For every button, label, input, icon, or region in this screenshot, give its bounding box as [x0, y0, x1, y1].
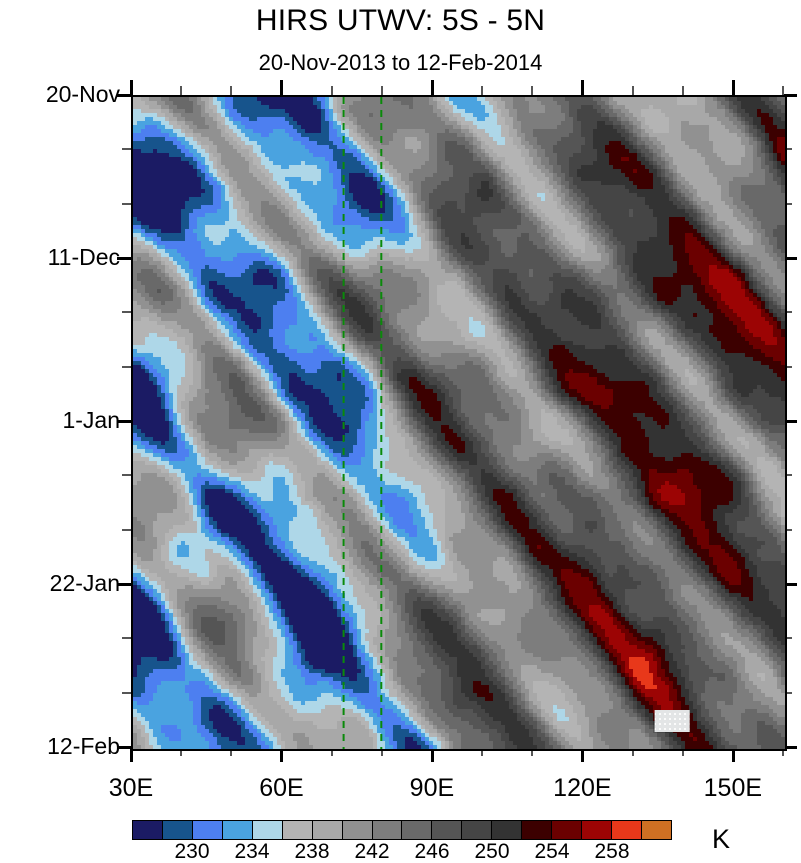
colorbar-unit-label: K — [712, 824, 730, 855]
y-minor-tick — [122, 529, 131, 531]
x-major-tick — [130, 80, 133, 95]
y-tick-label-0: 20-Nov — [0, 83, 120, 106]
y-minor-tick — [122, 311, 131, 313]
y-tick-label-4: 12-Feb — [0, 735, 120, 758]
x-major-tick — [732, 80, 735, 95]
y-major-tick — [117, 746, 131, 749]
plot-area — [131, 95, 787, 751]
y-major-tick — [117, 583, 131, 586]
colorbar[interactable] — [132, 820, 672, 840]
plot-clip — [133, 97, 785, 749]
y-minor-tick — [122, 366, 131, 368]
colorbar-swatch-10 — [431, 821, 461, 839]
colorbar-label-4: 246 — [402, 841, 462, 862]
y-minor-tick — [122, 148, 131, 150]
colorbar-label-7: 258 — [582, 841, 642, 862]
colorbar-label-2: 238 — [282, 841, 342, 862]
x-major-tick — [431, 80, 434, 95]
x-minor-tick — [180, 86, 182, 95]
x-minor-tick — [682, 86, 684, 95]
x-minor-tick — [531, 86, 533, 95]
colorbar-swatch-3 — [222, 821, 252, 839]
y-minor-tick — [122, 692, 131, 694]
colorbar-swatch-7 — [342, 821, 372, 839]
chart-title: HIRS UTWV: 5S - 5N — [0, 4, 801, 38]
x-major-tick — [581, 80, 584, 95]
x-minor-tick — [331, 86, 333, 95]
figure-canvas: HIRS UTWV: 5S - 5N 20-Nov-2013 to 12-Feb… — [0, 0, 801, 863]
colorbar-label-6: 254 — [522, 841, 582, 862]
x-minor-tick — [481, 86, 483, 95]
x-minor-tick — [381, 86, 383, 95]
x-tick-label-2: 90E — [372, 776, 492, 801]
colorbar-label-1: 234 — [222, 841, 282, 862]
y-minor-tick — [122, 637, 131, 639]
colorbar-swatch-16 — [611, 821, 641, 839]
x-minor-tick — [782, 86, 784, 95]
colorbar-swatch-13 — [521, 821, 551, 839]
x-minor-tick — [632, 86, 634, 95]
colorbar-label-5: 250 — [462, 841, 522, 862]
colorbar-swatch-0 — [133, 821, 162, 839]
colorbar-label-0: 230 — [162, 841, 222, 862]
colorbar-swatch-9 — [401, 821, 431, 839]
colorbar-swatch-14 — [551, 821, 581, 839]
y-minor-tick — [122, 474, 131, 476]
x-tick-label-3: 120E — [522, 776, 642, 801]
y-major-tick — [117, 257, 131, 260]
colorbar-swatch-15 — [581, 821, 611, 839]
overlay-lines — [133, 97, 785, 749]
colorbar-swatch-4 — [252, 821, 282, 839]
colorbar-swatch-8 — [372, 821, 402, 839]
x-minor-tick — [230, 86, 232, 95]
x-major-tick — [280, 80, 283, 95]
x-tick-label-4: 150E — [673, 776, 793, 801]
colorbar-swatch-11 — [461, 821, 491, 839]
chart-subtitle: 20-Nov-2013 to 12-Feb-2014 — [0, 50, 801, 76]
y-minor-tick — [122, 203, 131, 205]
x-tick-label-1: 60E — [221, 776, 341, 801]
colorbar-swatch-1 — [162, 821, 192, 839]
y-major-tick — [117, 94, 131, 97]
colorbar-swatch-6 — [312, 821, 342, 839]
y-tick-label-3: 22-Jan — [0, 572, 120, 595]
colorbar-swatch-2 — [192, 821, 222, 839]
colorbar-label-3: 242 — [342, 841, 402, 862]
colorbar-swatch-5 — [282, 821, 312, 839]
x-tick-label-0: 30E — [71, 776, 191, 801]
y-tick-label-2: 1-Jan — [0, 409, 120, 432]
colorbar-swatch-12 — [491, 821, 521, 839]
colorbar-swatch-17 — [641, 821, 671, 839]
y-major-tick — [117, 420, 131, 423]
y-tick-label-1: 11-Dec — [0, 246, 120, 269]
